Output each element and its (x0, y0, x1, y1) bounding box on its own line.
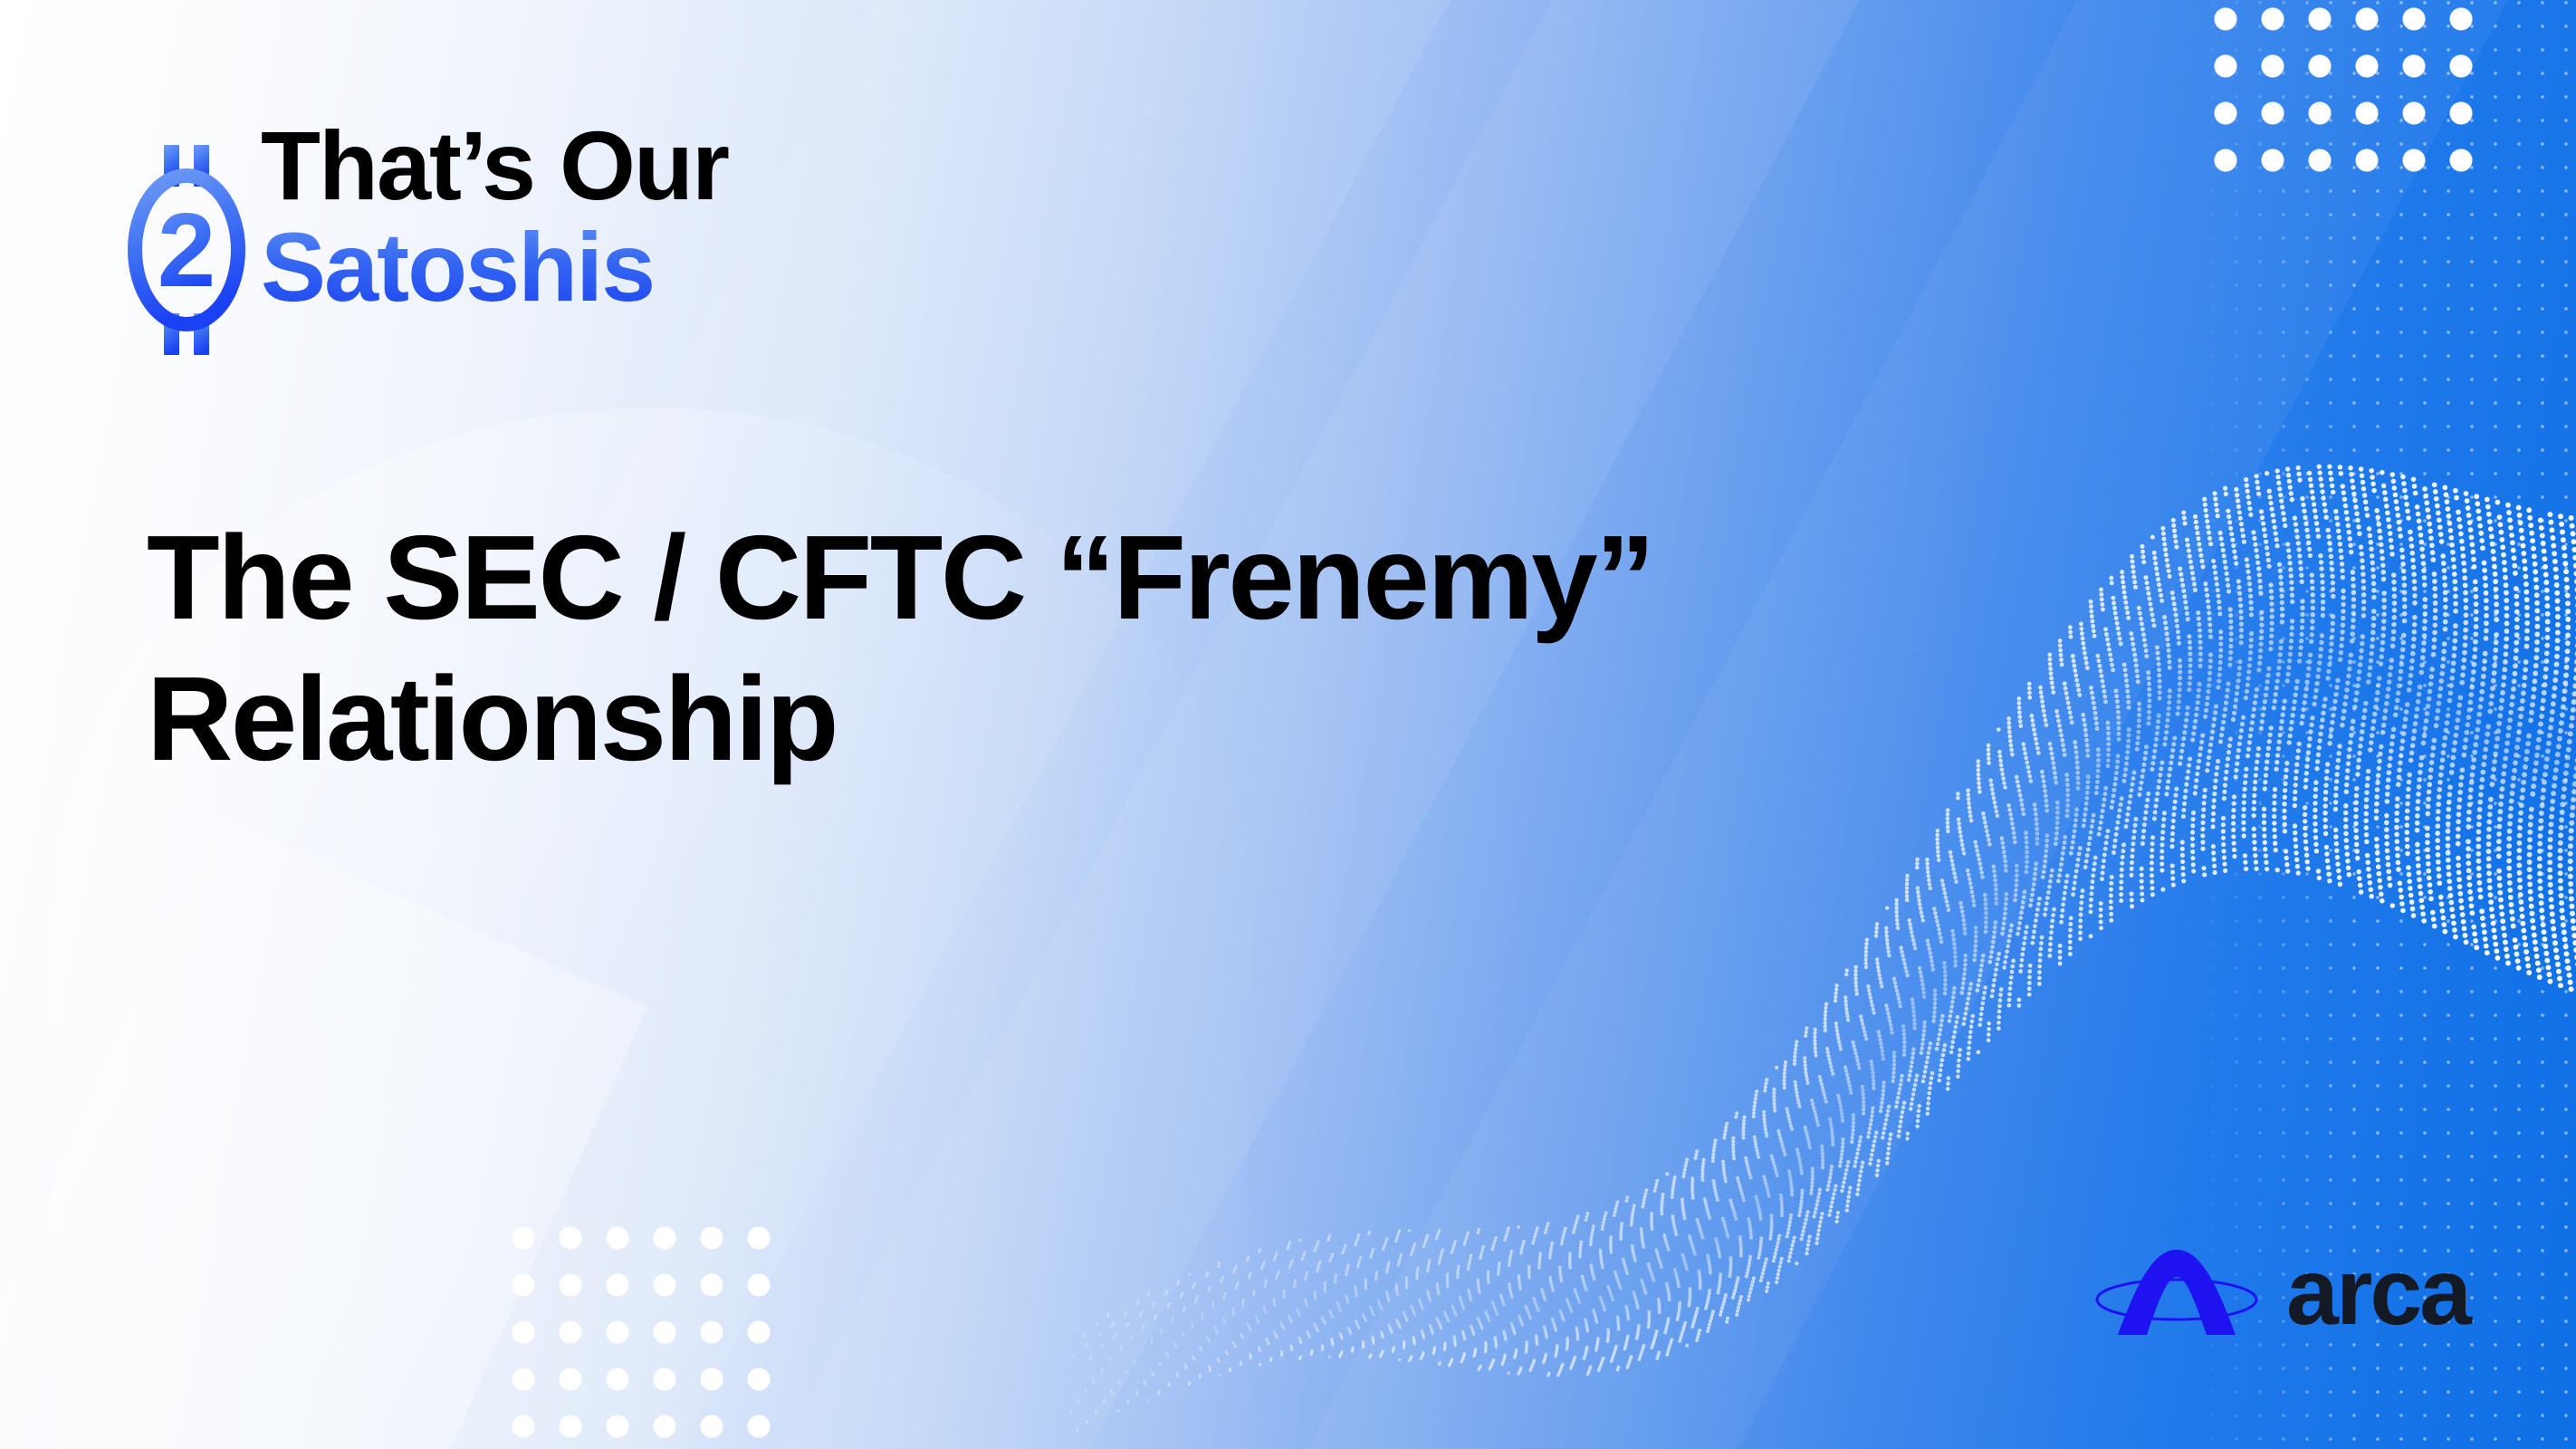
dot-grid-top-right (2214, 7, 2496, 196)
arca-logo: arca (2091, 1243, 2469, 1342)
title-card: 2 That’s Our Satoshis The SEC / CFTC “Fr… (0, 0, 2576, 1449)
podcast-logo: 2 That’s Our Satoshis (127, 118, 728, 359)
arca-arch-icon (2091, 1243, 2263, 1342)
page-title: The SEC / CFTC “Frenemy” Relationship (147, 507, 2048, 790)
title-line-2: Relationship (147, 648, 2048, 790)
podcast-logo-line-1: That’s Our (261, 118, 728, 214)
dot-mesh-texture (2187, 0, 2576, 1449)
podcast-logo-line-2: Satoshis (261, 219, 728, 315)
title-line-1: The SEC / CFTC “Frenemy” (147, 507, 2048, 648)
dot-grid-bottom-left (512, 1226, 794, 1449)
arca-wordmark: arca (2286, 1245, 2469, 1339)
bitcoin-2-icon: 2 (127, 141, 246, 359)
